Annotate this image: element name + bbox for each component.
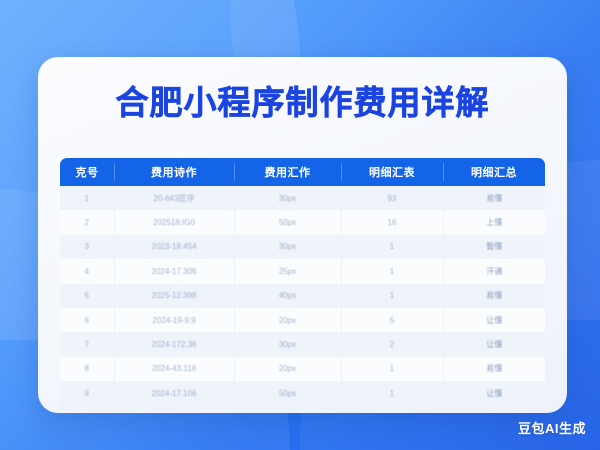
table-row[interactable]: 42024-17.30625px1汗通: [60, 259, 545, 283]
cell-count: 5: [341, 308, 443, 332]
cell-note: 暂懂: [443, 235, 545, 259]
cell-no: 7: [60, 332, 114, 356]
cell-fee: 10px: [234, 406, 341, 408]
cell-item: 2024-43.116: [114, 357, 234, 381]
cell-note: 让懂: [443, 332, 545, 356]
table-body: 120-643匠序30px93易懂2202518.IG050px16上懂3202…: [60, 186, 545, 408]
cell-no: 6: [60, 308, 114, 332]
ai-watermark: 豆包AI生成: [518, 418, 586, 437]
cell-count: 2: [341, 332, 443, 356]
page-title: 合肥小程序制作费用详解: [38, 83, 567, 123]
table-row[interactable]: 102016-19-1610px1易懂: [60, 406, 545, 408]
cell-item: 202518.IG0: [114, 210, 234, 234]
cell-count: 1: [341, 381, 443, 405]
cell-note: 易懂: [443, 284, 545, 308]
cell-item: 20-643匠序: [114, 186, 234, 210]
cell-note: 易懂: [443, 186, 545, 210]
cell-item: 2016-19-16: [114, 406, 234, 408]
table-row[interactable]: 52025-12.39840px1易懂: [60, 284, 545, 308]
cell-count: 1: [341, 259, 443, 283]
cell-fee: 20px: [234, 357, 341, 381]
cell-fee: 50px: [234, 210, 341, 234]
cell-fee: 30px: [234, 332, 341, 356]
cell-item: 2024-172.36: [114, 332, 234, 356]
column-header-no[interactable]: 克号: [60, 158, 114, 186]
cell-no: 3: [60, 235, 114, 259]
poster-canvas: 合肥小程序制作费用详解 克号 费用诗作 费用汇作 明细汇表 明细汇总 120-6…: [0, 0, 600, 450]
table-row[interactable]: 120-643匠序30px93易懂: [60, 186, 545, 210]
cell-item: 2024-19-9.9: [114, 308, 234, 332]
cell-item: 2024-17.106: [114, 381, 234, 405]
cell-count: 1: [341, 235, 443, 259]
cell-no: 9: [60, 381, 114, 405]
cell-count: 1: [341, 357, 443, 381]
table-row[interactable]: 72024-172.3630px2让懂: [60, 332, 545, 356]
cell-fee: 40px: [234, 284, 341, 308]
cell-fee: 50px: [234, 381, 341, 405]
cell-item: 2024-17.306: [114, 259, 234, 283]
cell-fee: 20px: [234, 308, 341, 332]
cell-fee: 25px: [234, 259, 341, 283]
column-header-count[interactable]: 明细汇表: [341, 158, 443, 186]
cell-note: 让懂: [443, 308, 545, 332]
cell-note: 让懂: [443, 381, 545, 405]
cell-note: 易懂: [443, 357, 545, 381]
cell-item: 2023-18.454: [114, 235, 234, 259]
table-row[interactable]: 62024-19-9.920px5让懂: [60, 308, 545, 332]
table-row[interactable]: 82024-43.11620px1易懂: [60, 357, 545, 381]
cell-no: 8: [60, 357, 114, 381]
cell-no: 5: [60, 284, 114, 308]
cell-no: 10: [60, 406, 114, 408]
table-row[interactable]: 32023-18.45430px1暂懂: [60, 235, 545, 259]
cell-no: 2: [60, 210, 114, 234]
cell-count: 93: [341, 186, 443, 210]
column-header-note[interactable]: 明细汇总: [443, 158, 545, 186]
cell-no: 4: [60, 259, 114, 283]
column-header-item[interactable]: 费用诗作: [114, 158, 234, 186]
cell-count: 1: [341, 406, 443, 408]
table-header-row: 克号 费用诗作 费用汇作 明细汇表 明细汇总: [60, 158, 545, 186]
table-row[interactable]: 92024-17.10650px1让懂: [60, 381, 545, 405]
cell-fee: 30px: [234, 186, 341, 210]
cell-note: 上懂: [443, 210, 545, 234]
fee-table-container: 克号 费用诗作 费用汇作 明细汇表 明细汇总 120-643匠序30px93易懂…: [60, 158, 545, 408]
cell-item: 2025-12.398: [114, 284, 234, 308]
content-card: 合肥小程序制作费用详解 克号 费用诗作 费用汇作 明细汇表 明细汇总 120-6…: [38, 57, 567, 413]
cell-note: 汗通: [443, 259, 545, 283]
table-row[interactable]: 2202518.IG050px16上懂: [60, 210, 545, 234]
cell-count: 16: [341, 210, 443, 234]
fee-table: 克号 费用诗作 费用汇作 明细汇表 明细汇总 120-643匠序30px93易懂…: [60, 158, 545, 408]
cell-note: 易懂: [443, 406, 545, 408]
cell-count: 1: [341, 284, 443, 308]
cell-no: 1: [60, 186, 114, 210]
table-header: 克号 费用诗作 费用汇作 明细汇表 明细汇总: [60, 158, 545, 186]
cell-fee: 30px: [234, 235, 341, 259]
column-header-fee[interactable]: 费用汇作: [234, 158, 341, 186]
